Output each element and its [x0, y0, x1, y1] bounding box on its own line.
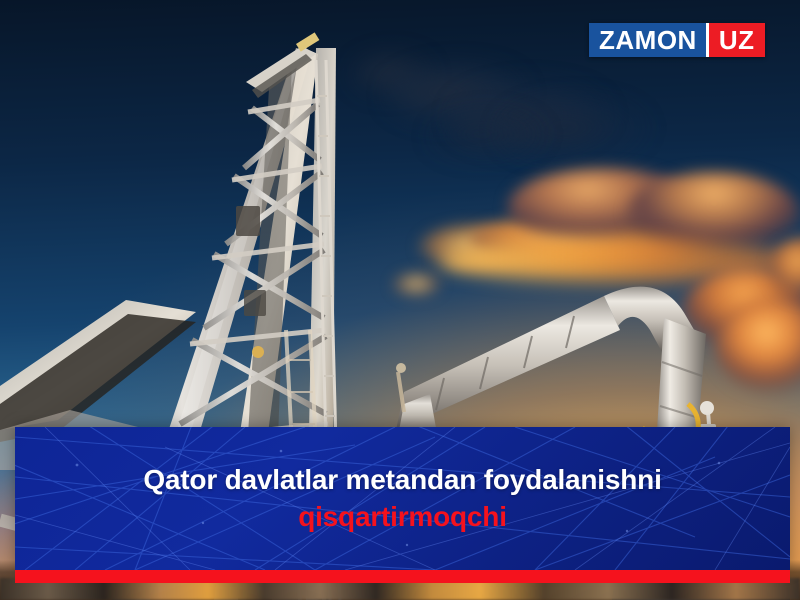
background-small-pipe	[396, 363, 406, 412]
caption-text-block: Qator davlatlar metandan foydalanishni q…	[15, 427, 790, 570]
caption-panel: Qator davlatlar metandan foydalanishni q…	[15, 427, 790, 570]
caption-subhead: qisqartirmoqchi	[298, 501, 507, 533]
caption-headline: Qator davlatlar metandan foydalanishni	[143, 464, 661, 496]
zamon-uz-logo[interactable]: ZAMON UZ	[589, 23, 765, 57]
logo-accent-text: UZ	[709, 23, 765, 57]
logo-primary-text: ZAMON	[589, 23, 706, 57]
news-card: ZAMON UZ	[0, 0, 800, 600]
pipeline-angled-run	[396, 296, 620, 436]
caption-red-stripe	[15, 570, 790, 583]
